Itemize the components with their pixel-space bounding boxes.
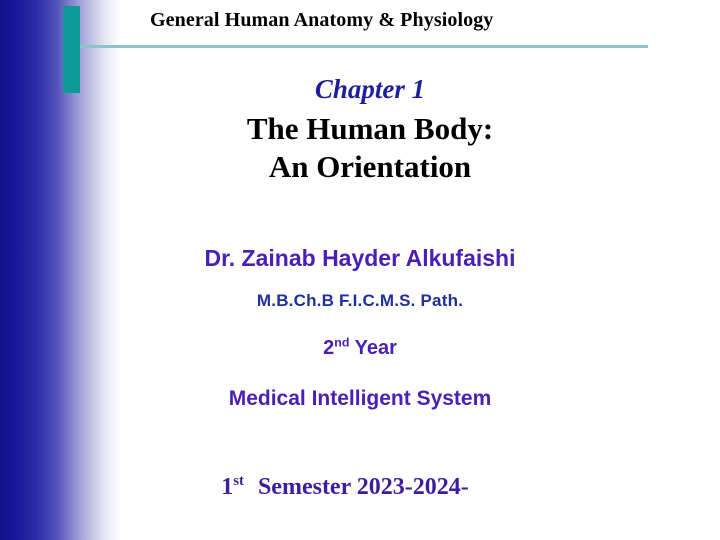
course-year-number: 2 [323, 337, 334, 359]
chapter-label: Chapter 1 [110, 74, 630, 104]
teal-accent-bar [63, 6, 80, 93]
slide-canvas: General Human Anatomy & Physiology Chapt… [0, 0, 720, 540]
course-year-ordinal-suffix: nd [334, 335, 349, 349]
semester-number: 1 [221, 474, 233, 500]
title-block: Chapter 1 The Human Body: An Orientation [110, 74, 630, 186]
semester-ordinal-suffix: st [233, 473, 244, 489]
presenter-degrees: M.B.Ch.B F.I.C.M.S. Path. [80, 290, 640, 312]
course-year-word: Year [355, 337, 397, 359]
semester-line: 1st Semester 2023-2024- [80, 473, 610, 501]
presenter-block: Dr. Zainab Hayder Alkufaishi M.B.Ch.B F.… [80, 244, 640, 412]
slide-title-line-1: The Human Body: [110, 110, 630, 148]
course-name: Medical Intelligent System [80, 386, 640, 412]
header-divider-rule [80, 45, 648, 48]
semester-label: Semester 2023-2024- [258, 474, 469, 500]
course-year: 2nd Year [80, 336, 640, 360]
presenter-name: Dr. Zainab Hayder Alkufaishi [80, 244, 640, 272]
slide-title-line-2: An Orientation [110, 148, 630, 186]
slide-header-title: General Human Anatomy & Physiology [150, 9, 650, 32]
